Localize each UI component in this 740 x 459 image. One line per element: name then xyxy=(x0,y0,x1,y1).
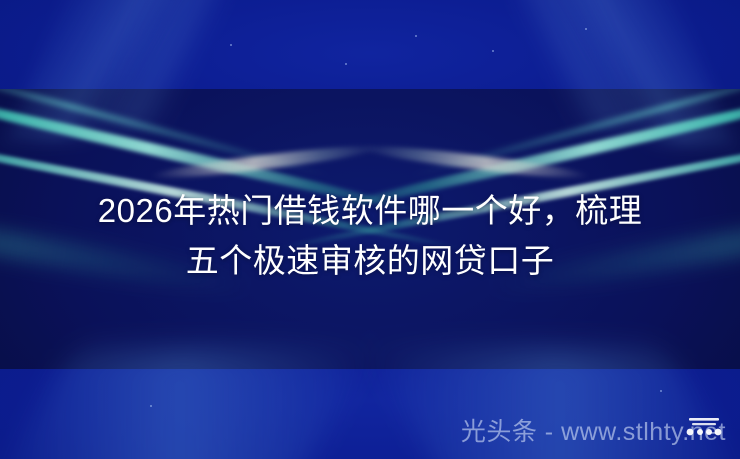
article-banner: 2026年热门借钱软件哪一个好，梳理 五个极速审核的网贷口子 光头条 - www… xyxy=(0,0,740,459)
background-band-top xyxy=(0,0,740,89)
banner-title: 2026年热门借钱软件哪一个好，梳理 五个极速审核的网贷口子 xyxy=(0,186,740,286)
watermark-text: 光头条 - www.stlhty.net xyxy=(461,420,726,445)
